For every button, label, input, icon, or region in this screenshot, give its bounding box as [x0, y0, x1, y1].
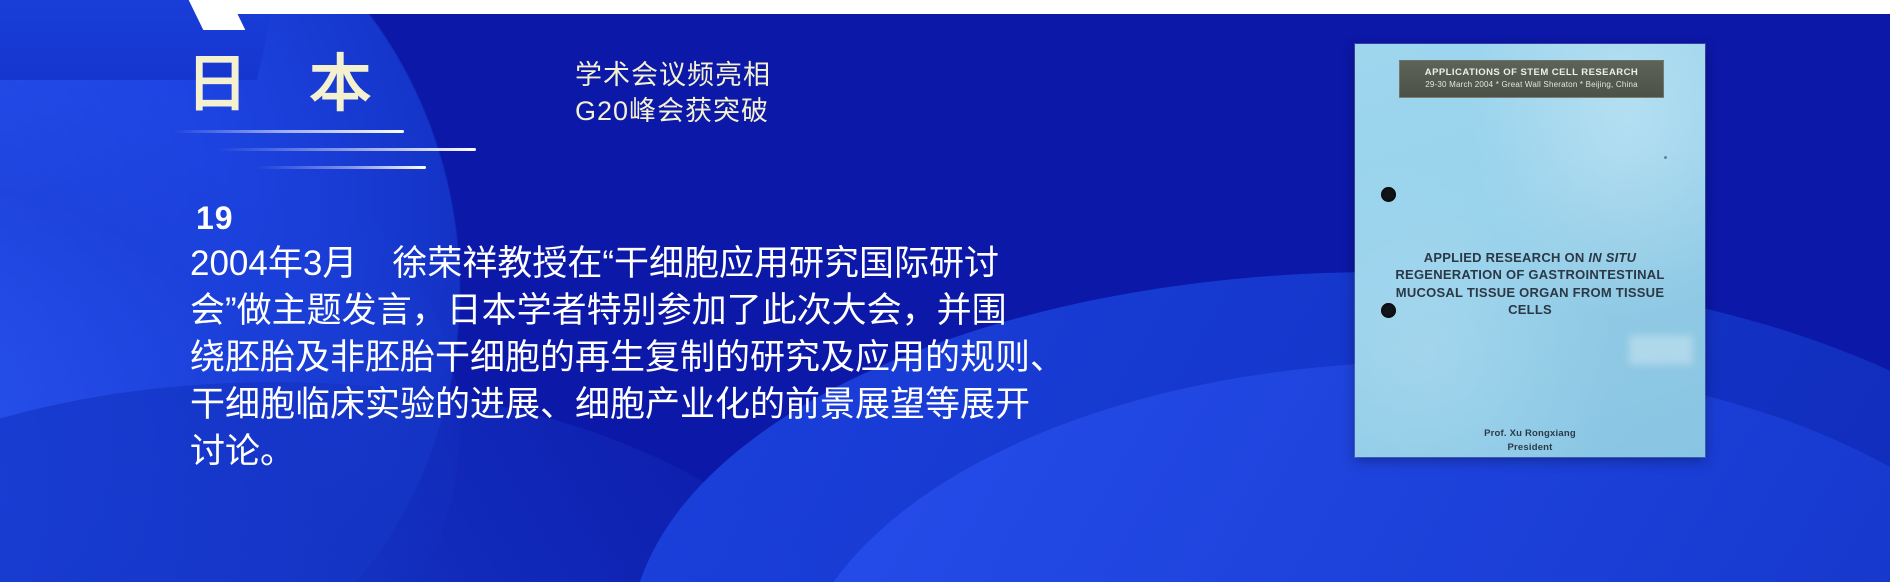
hole-punch-icon [1381, 187, 1396, 202]
slide-canvas: 日 本 学术会议频亮相 G20峰会获突破 19 2004年3月 徐荣祥教授在“干… [0, 0, 1890, 582]
page-title: 日 本 [186, 52, 506, 117]
subtitle-line-1: 学术会议频亮相 [575, 58, 771, 94]
document-title: APPLIED RESEARCH ON IN SITU REGENERATION… [1377, 249, 1683, 319]
body-line-2: 会”做主题发言，日本学者特别参加了此次大会，并围 [190, 287, 1170, 334]
body-line-5: 讨论。 [190, 428, 1170, 475]
document-header-banner: APPLICATIONS OF STEM CELL RESEARCH 29-30… [1399, 60, 1664, 98]
document-title-line-2: REGENERATION OF GASTROINTESTINAL [1395, 267, 1664, 282]
document-author-block: Prof. Xu Rongxiang President MEBO Intern… [1377, 427, 1683, 457]
document-title-line-3: MUCOSAL TISSUE ORGAN FROM TISSUE [1396, 285, 1665, 300]
body-line-3: 绕胚胎及非胚胎干细胞的再生复制的研究及应用的规则、 [190, 334, 1170, 381]
document-author-name: Prof. Xu Rongxiang [1377, 427, 1683, 441]
body-line-1: 2004年3月 徐荣祥教授在“干细胞应用研究国际研讨 [190, 240, 1170, 287]
subtitle-line-2: G20峰会获突破 [575, 94, 771, 130]
title-rule-2 [218, 148, 476, 151]
item-number: 19 [196, 200, 234, 237]
document-author-org: MEBO International, China [1377, 456, 1683, 458]
title-block: 日 本 [186, 52, 506, 117]
document-banner-subtitle: 29-30 March 2004 * Great Wall Sheraton *… [1425, 80, 1638, 90]
top-white-wedge-icon [189, 0, 246, 30]
document-title-line-4: CELLS [1508, 302, 1552, 317]
document-title-line-1-a: APPLIED RESEARCH ON [1424, 250, 1589, 265]
document-banner-title: APPLICATIONS OF STEM CELL RESEARCH [1425, 68, 1638, 79]
title-rule-1 [174, 130, 404, 133]
document-author-role: President [1377, 441, 1683, 455]
body-line-4: 干细胞临床实验的进展、细胞产业化的前景展望等展开 [190, 381, 1170, 428]
title-rule-3 [256, 166, 426, 169]
document-photo: APPLICATIONS OF STEM CELL RESEARCH 29-30… [1355, 44, 1705, 457]
subtitle-block: 学术会议频亮相 G20峰会获突破 [575, 58, 771, 129]
title-underline-rules [126, 130, 506, 174]
top-white-strip [215, 0, 1890, 14]
body-paragraph: 2004年3月 徐荣祥教授在“干细胞应用研究国际研讨 会”做主题发言，日本学者特… [190, 240, 1170, 475]
paper-speck-icon [1664, 156, 1667, 159]
paper-smudge-icon [1629, 335, 1693, 365]
document-title-line-1-b: IN SITU [1588, 250, 1636, 265]
